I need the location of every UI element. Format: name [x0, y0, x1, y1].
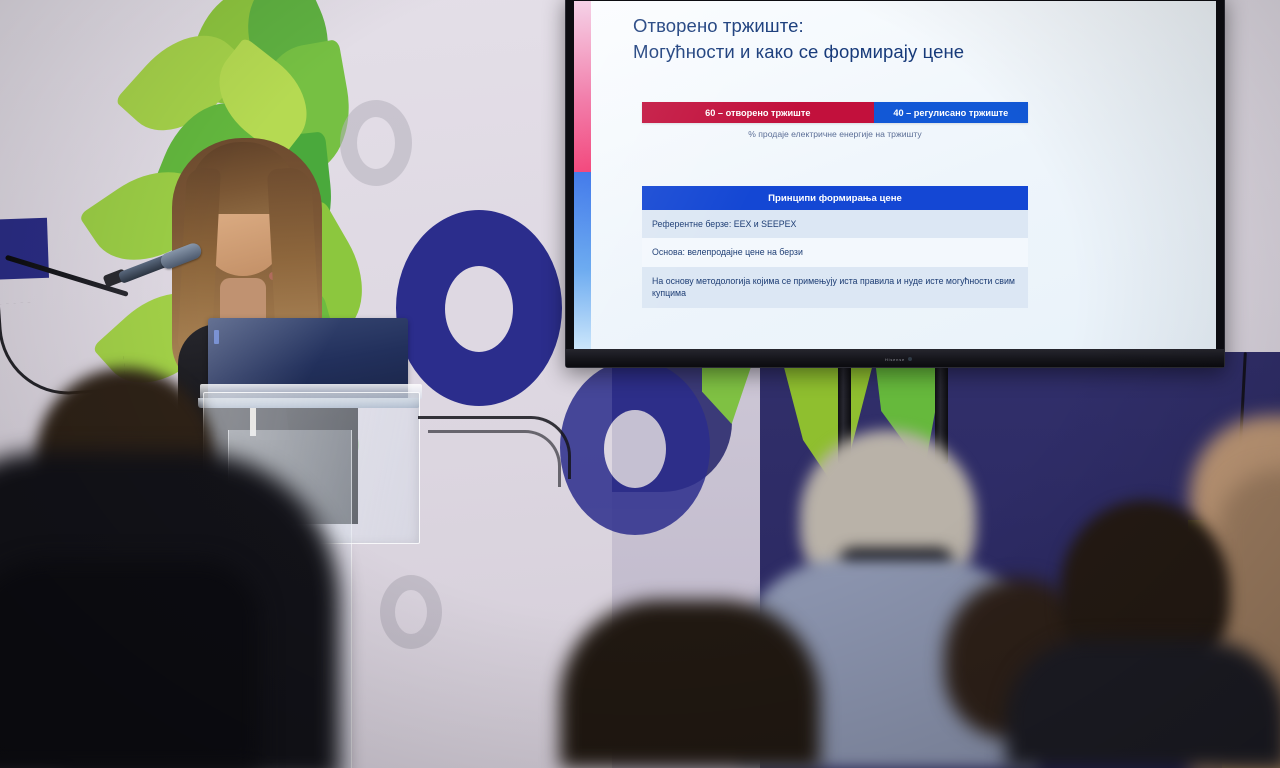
backdrop-letter-o-lower: [560, 360, 710, 535]
accent-bar-blue: [574, 172, 591, 349]
bar-segment-open-market: 60 – отворено тржиште: [642, 102, 874, 123]
audience-shirt-right: [1006, 640, 1280, 768]
audience-head-lower-center: [560, 600, 820, 768]
slide-accent-bar: [574, 1, 591, 349]
slide-title-line-1: Отворено тржиште:: [633, 13, 1063, 39]
market-split-bar: 60 – отворено тржиште 40 – регулисано тр…: [642, 102, 1028, 123]
audience-foreground-left: [0, 560, 260, 768]
tv-display: Отворено тржиште: Могућности и како се ф…: [565, 0, 1225, 368]
tv-bezel-bottom: Hisense: [566, 349, 1224, 367]
slide-title: Отворено тржиште: Могућности и како се ф…: [633, 13, 1063, 66]
tv-power-led: [908, 357, 912, 361]
backdrop-letter-o-large: [396, 210, 562, 406]
presentation-slide: Отворено тржиште: Могућности и како се ф…: [574, 1, 1216, 349]
pricing-principles-table: Принципи формирања цене Референтне берзе…: [642, 186, 1028, 308]
bar-segment-regulated-market: 40 – регулисано тржиште: [874, 102, 1028, 123]
screenshot-root: Отворено тржиште: Могућности и како се ф…: [0, 0, 1280, 768]
tv-brand-label: Hisense: [885, 357, 905, 362]
backdrop-ghost-letter-o-lower: [380, 575, 442, 649]
tv-screen: Отворено тржиште: Могућности и како се ф…: [574, 1, 1216, 349]
accent-bar-pink: [574, 1, 591, 172]
slide-title-line-2: Могућности и како се формирају цене: [633, 39, 1063, 65]
table-header: Принципи формирања цене: [642, 186, 1028, 210]
table-row: На основу методологија којима се примењу…: [642, 267, 1028, 308]
table-row: Референтне берзе: EEX и SEEPEX: [642, 210, 1028, 238]
floor-cable-2: [428, 430, 561, 487]
market-split-caption: % продаје електричне енергије на тржишту: [642, 129, 1028, 139]
table-row: Основа: велепродајне цене на берзи: [642, 238, 1028, 266]
